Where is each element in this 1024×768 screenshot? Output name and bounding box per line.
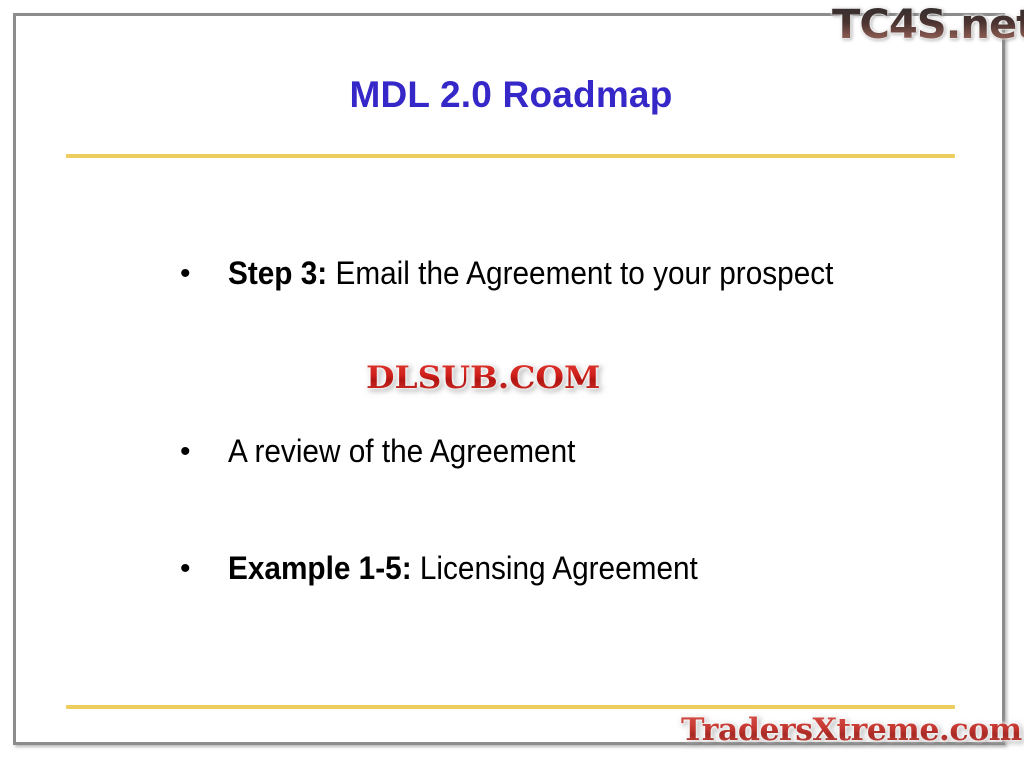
list-item-text: Step 3: Email the Agreement to your pros… [228,252,833,295]
list-item-text: A review of the Agreement [228,430,575,473]
list-item-rest: Licensing Agreement [412,550,698,586]
divider-bottom [66,705,955,709]
page-title: MDL 2.0 Roadmap [66,74,956,116]
bullet-marker-icon: • [180,252,206,295]
list-item-rest: Email the Agreement to your prospect [327,255,833,291]
watermark-tradersxtreme: TradersXtreme.com [681,712,1022,748]
bullet-marker-icon: • [180,430,206,473]
list-item: • Step 3: Email the Agreement to your pr… [176,252,879,295]
list-item-text: Example 1-5: Licensing Agreement [228,547,698,590]
bullet-marker-icon: • [180,547,206,590]
list-item-lead: Example 1-5: [228,550,412,586]
list-item: • A review of the Agreement [176,430,602,473]
watermark-dlsub: DLSUB.COM [366,360,600,396]
divider-top [66,154,955,158]
list-item: • Example 1-5: Licensing Agreement [176,547,733,590]
list-item-lead: Step 3: [228,255,327,291]
watermark-tc4s: TC4S.net [832,2,1024,48]
slide-canvas: MDL 2.0 Roadmap • Step 3: Email the Agre… [0,0,1024,768]
list-item-rest: A review of the Agreement [228,433,575,469]
